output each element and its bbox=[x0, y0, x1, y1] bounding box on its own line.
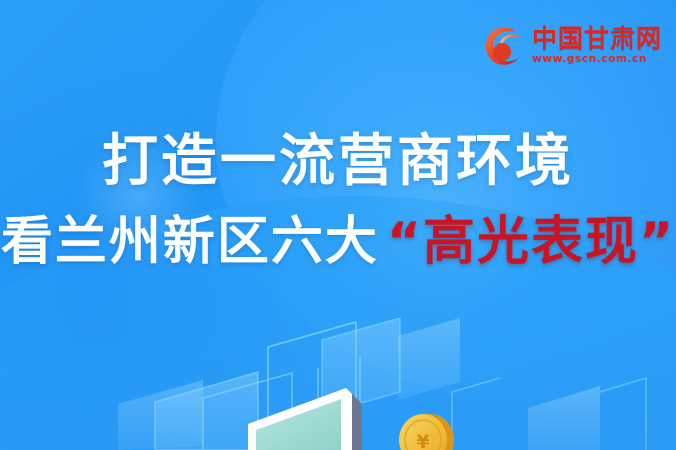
headline-line-1: 打造一流营商环境 bbox=[0, 132, 676, 191]
headline-line-2: 看兰州新区六大“高光表现” bbox=[0, 215, 676, 270]
banner-root: ¥ 中国甘肃网 www.gscn.com.cn bbox=[0, 0, 676, 450]
headline-line-2-red: “高光表现” bbox=[387, 212, 675, 272]
logo-text-block: 中国甘肃网 www.gscn.com.cn bbox=[532, 26, 662, 65]
gscn-swirl-logo-icon bbox=[482, 23, 526, 67]
headline-block: 打造一流营商环境 看兰州新区六大“高光表现” bbox=[0, 132, 676, 270]
site-logo[interactable]: 中国甘肃网 www.gscn.com.cn bbox=[482, 22, 662, 68]
logo-site-url: www.gscn.com.cn bbox=[532, 54, 662, 65]
headline-line-2-white: 看兰州新区六大 bbox=[1, 212, 379, 272]
logo-site-name: 中国甘肃网 bbox=[532, 26, 662, 51]
